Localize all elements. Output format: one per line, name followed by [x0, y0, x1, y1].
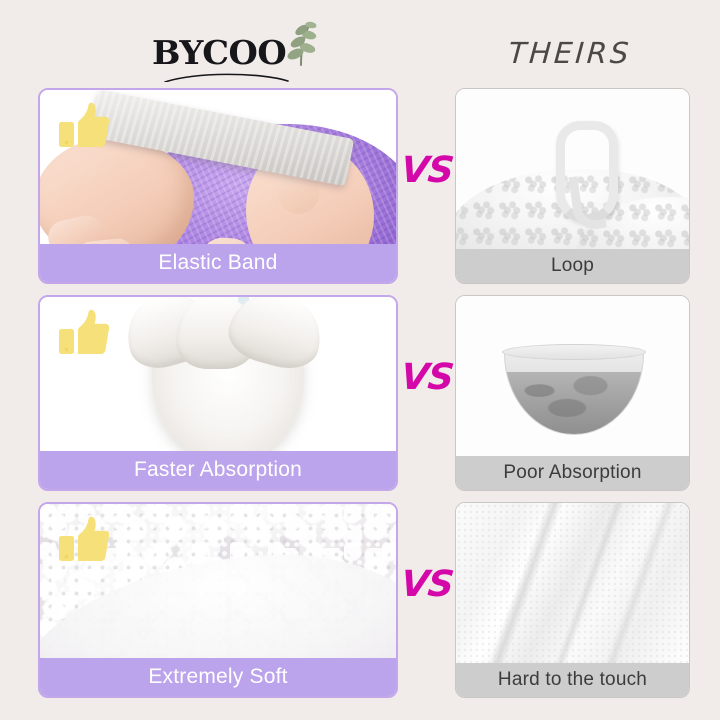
leaf-branch-icon	[270, 20, 318, 68]
brand-underline-swoosh	[164, 70, 289, 82]
theirs-caption: Poor Absorption	[456, 456, 689, 490]
vs-separator: VS	[396, 564, 458, 605]
comparison-infographic: BYCOO THEIRS	[0, 0, 720, 720]
thumbs-up-icon	[58, 102, 110, 150]
thumbs-up-icon	[58, 516, 110, 564]
ours-panel[interactable]: Extremely Soft	[38, 502, 398, 698]
hard-fabric-illustration	[456, 503, 689, 663]
vs-separator: VS	[396, 357, 458, 398]
theirs-panel[interactable]: Hard to the touch	[455, 502, 690, 698]
brand-logo: BYCOO	[152, 24, 332, 80]
thumbs-up-icon	[58, 309, 110, 357]
ours-caption: Extremely Soft	[40, 658, 396, 696]
header: BYCOO THEIRS	[0, 0, 720, 88]
theirs-panel[interactable]: Loop	[455, 88, 690, 284]
theirs-panel[interactable]: Poor Absorption	[455, 295, 690, 491]
ours-panel[interactable]: Elastic Band	[38, 88, 398, 284]
ours-caption: Faster Absorption	[40, 451, 396, 489]
theirs-caption: Loop	[456, 249, 689, 283]
ours-panel[interactable]: Faster Absorption	[38, 295, 398, 491]
theirs-caption: Hard to the touch	[456, 663, 689, 697]
comparison-rows: Elastic Band VS Loop	[0, 88, 720, 720]
ours-image	[40, 90, 396, 244]
theirs-image	[456, 296, 689, 456]
comparison-row: Faster Absorption VS Poor Absorption	[0, 295, 720, 495]
ours-image	[40, 297, 396, 451]
ours-image	[40, 504, 396, 658]
loop-illustration	[456, 89, 689, 249]
theirs-image	[456, 503, 689, 663]
brand-wordmark: BYCOO	[152, 36, 286, 69]
comparison-row: Extremely Soft VS Hard to the touch	[0, 502, 720, 702]
competitor-title: THEIRS	[459, 36, 681, 70]
vs-separator: VS	[396, 150, 458, 191]
ours-caption: Elastic Band	[40, 244, 396, 282]
poor-absorption-illustration	[456, 296, 689, 456]
comparison-row: Elastic Band VS Loop	[0, 88, 720, 288]
theirs-image	[456, 89, 689, 249]
